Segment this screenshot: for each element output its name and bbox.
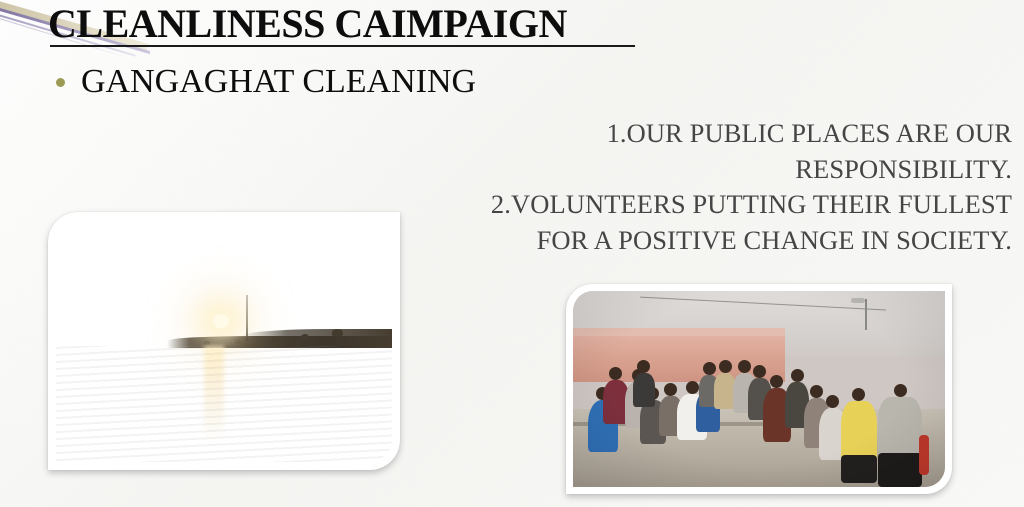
transmission-tower [246,295,248,341]
sun [213,314,229,328]
river-sunset-photo [56,220,392,462]
tree-3 [271,337,278,342]
ghat-cleanup-scene [573,291,945,487]
volunteers-cleaning-photo-frame[interactable] [566,284,952,494]
bullet-dot-icon [56,78,65,87]
river-sunset-photo-frame[interactable] [48,212,400,470]
body-line-2: RESPONSIBILITY. [372,152,1012,188]
sunset-sky-and-water [56,220,392,462]
tree-1 [332,329,343,336]
bullet-list-item: GANGAGHAT CLEANING [56,63,476,101]
tree-2 [301,334,309,340]
body-text-block: 1.OUR PUBLIC PLACES ARE OUR RESPONSIBILI… [372,116,1012,258]
tree-4 [234,339,241,344]
body-line-4: FOR A POSITIVE CHANGE IN SOCIETY. [372,223,1012,259]
water-ripples [56,346,392,462]
bullet-item-label: GANGAGHAT CLEANING [81,63,476,101]
photo-vignette [573,291,945,487]
body-line-1: 1.OUR PUBLIC PLACES ARE OUR [372,116,1012,152]
presentation-slide: CLEANLINESS CAIMPAIGN GANGAGHAT CLEANING… [0,0,1024,507]
body-line-3: 2.VOLUNTEERS PUTTING THEIR FULLEST [372,187,1012,223]
title-underline [50,45,635,47]
slide-title: CLEANLINESS CAIMPAIGN [48,2,567,46]
volunteers-cleaning-photo [573,291,945,487]
